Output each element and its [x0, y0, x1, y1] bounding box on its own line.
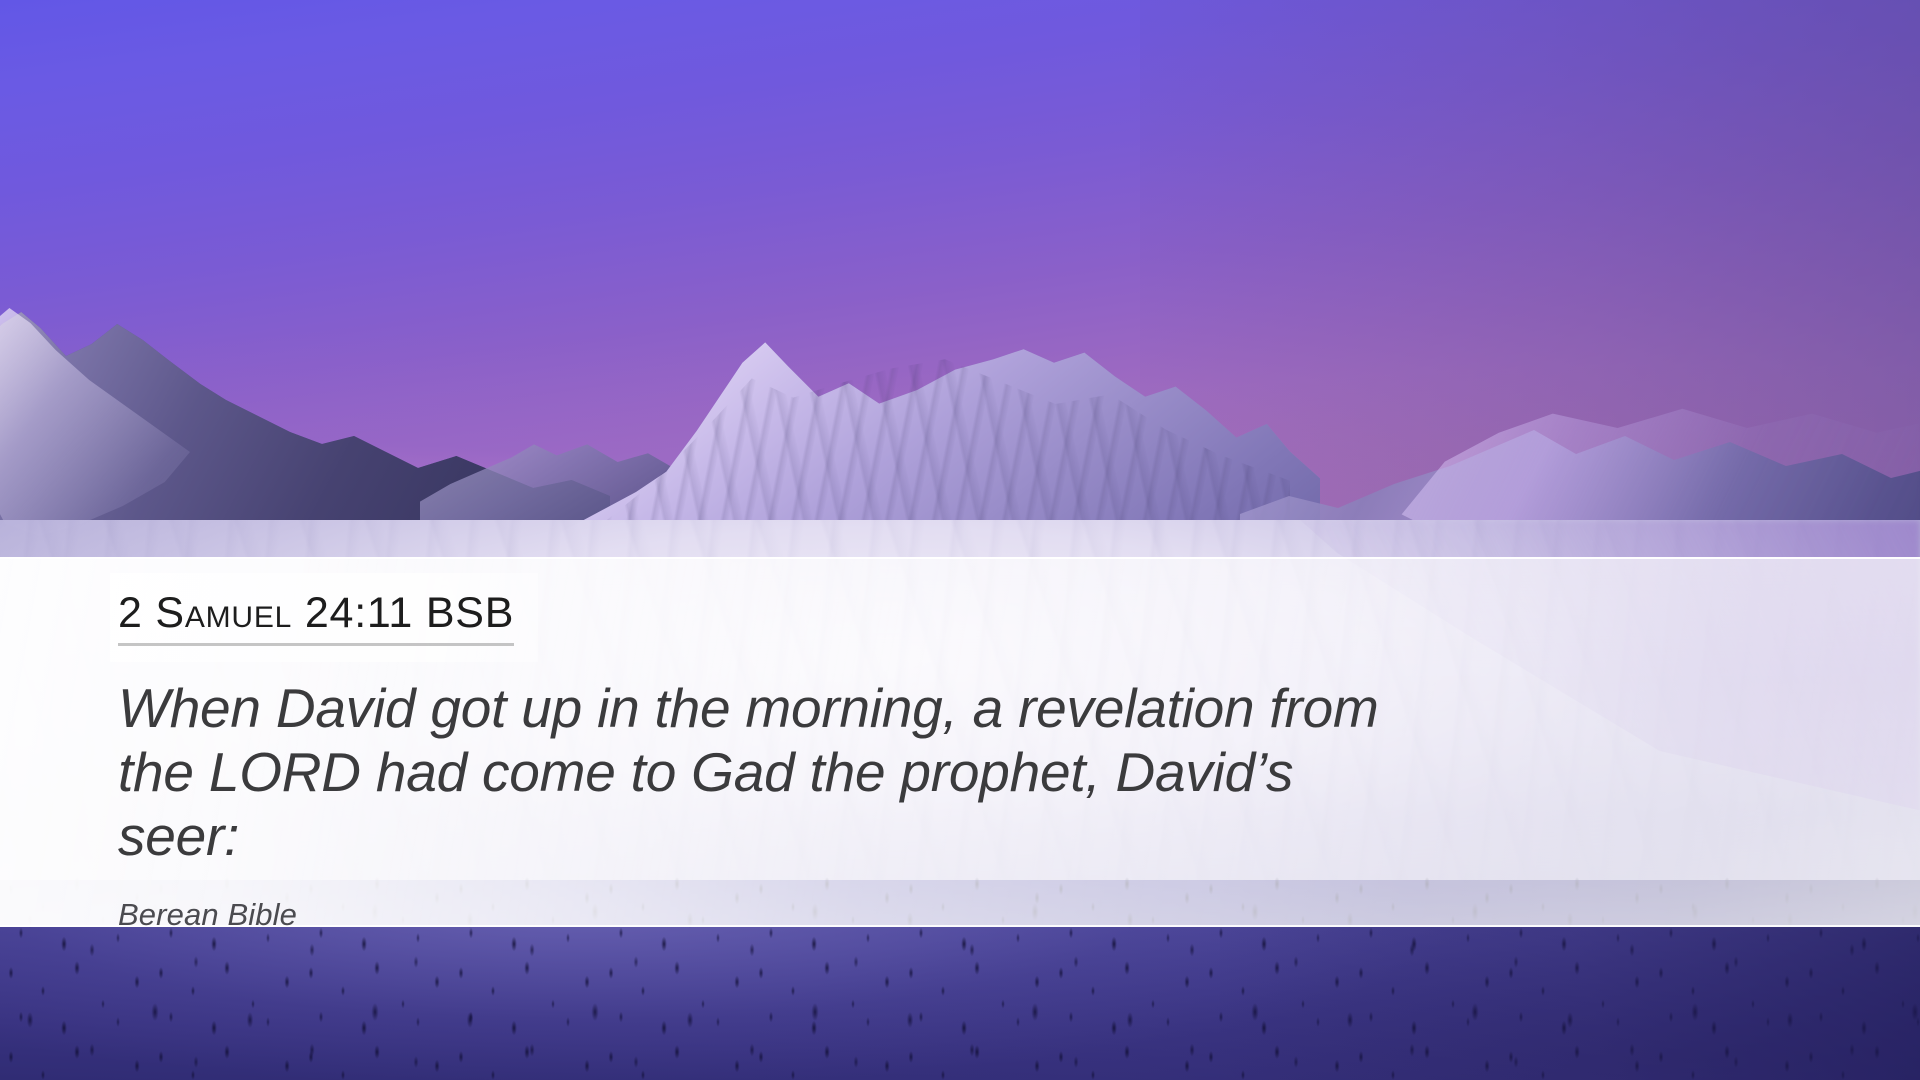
scripture-reference: 2 Samuel 24:11 BSB — [118, 591, 514, 637]
verse-line-2: the LORD had come to Gad the prophet, Da… — [118, 741, 1293, 867]
verse-line-1: When David got up in the morning, a reve… — [118, 677, 1379, 739]
scripture-image-card: 2 Samuel 24:11 BSB When David got up in … — [0, 0, 1920, 1080]
verse-text: When David got up in the morning, a reve… — [118, 676, 1428, 869]
verse-banner: 2 Samuel 24:11 BSB When David got up in … — [0, 557, 1920, 927]
scripture-reference-block: 2 Samuel 24:11 BSB — [118, 591, 514, 646]
translation-attribution: Berean Bible — [118, 897, 1920, 933]
verse-banner-content: 2 Samuel 24:11 BSB When David got up in … — [0, 559, 1920, 925]
scripture-reference-underline — [118, 643, 514, 646]
